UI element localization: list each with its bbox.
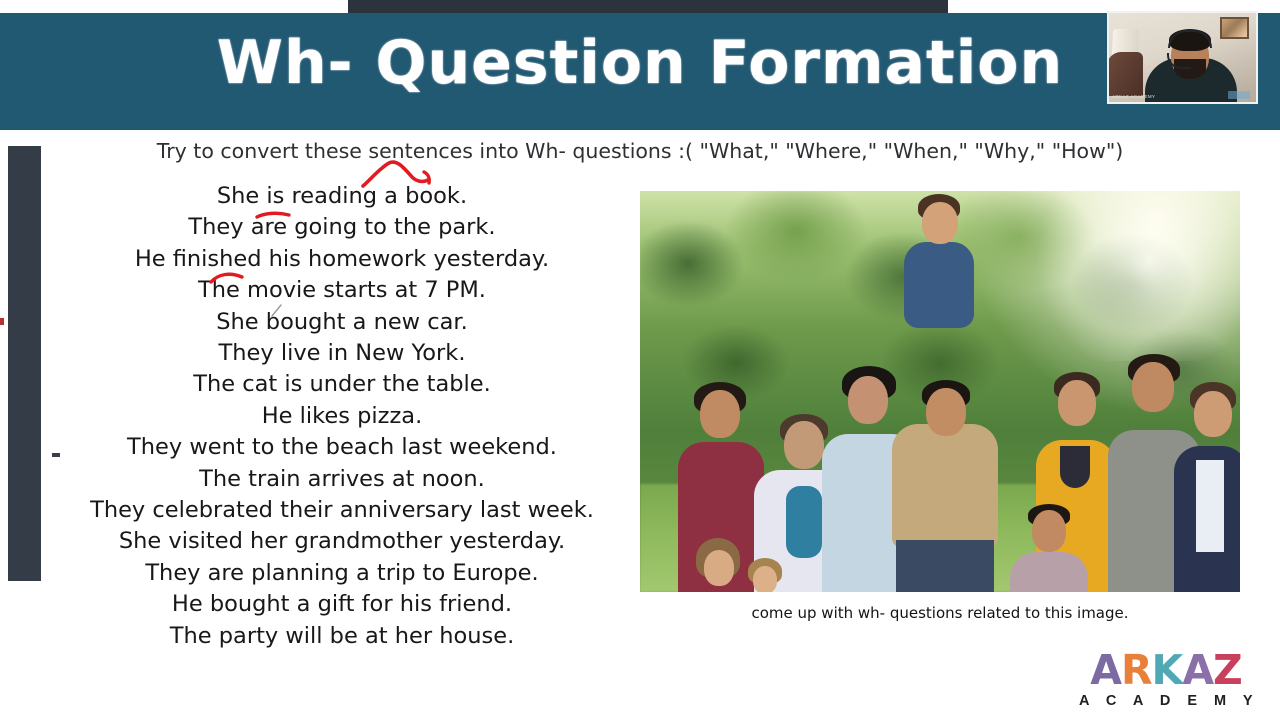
logo-letter-a1: A [1090,648,1121,692]
sentence-list: She is reading a book. They are going to… [44,181,640,652]
list-item: They live in New York. [44,338,640,369]
list-item: The train arrives at noon. [44,464,640,495]
presentation-slide: Wh- Question Formation ARKAZ ACADEMY Try… [0,0,1280,720]
image-caption: come up with wh- questions related to th… [640,604,1240,622]
webcam-badge [1228,91,1250,99]
logo-wordmark: ARKAZ [1066,648,1266,692]
wall-picture-icon [1220,17,1249,39]
logo-letter-r: R [1121,648,1152,692]
list-item: The cat is under the table. [44,369,640,400]
logo-subtitle: A C A D E M Y [1066,692,1266,710]
instruction-text: Try to convert these sentences into Wh- … [0,139,1280,164]
left-side-panel[interactable] [8,146,41,581]
list-item: They went to the beach last weekend. [44,432,640,463]
list-item: The movie starts at 7 PM. [44,275,640,306]
photo-person-tan-tee [882,340,1006,592]
webcam-watermark: ARKAZ ACADEMY [1112,94,1155,99]
webcam-overlay[interactable]: ARKAZ ACADEMY [1107,11,1258,104]
logo-letter-k: K [1152,648,1183,692]
list-item: The party will be at her house. [44,621,640,652]
list-item: They are going to the park. [44,212,640,243]
slide-header-band: Wh- Question Formation [0,13,1280,130]
logo-letter-a2: A [1182,648,1213,692]
logo-letter-z: Z [1213,648,1242,692]
list-item: She is reading a book. [44,181,640,212]
photo-person-plaid-seated [1008,504,1090,592]
list-item: They are planning a trip to Europe. [44,558,640,589]
list-item: He finished his homework yesterday. [44,244,640,275]
photo-person-child-left [688,536,750,592]
list-item: She visited her grandmother yesterday. [44,526,640,557]
list-item: He likes pizza. [44,401,640,432]
photo-person-child-left-2 [742,558,790,592]
list-item: He bought a gift for his friend. [44,589,640,620]
photo-person-navy-cardigan [1172,382,1240,592]
photo-sun-flare [1020,191,1240,361]
list-item: They celebrated their anniversary last w… [44,495,640,526]
family-photo [640,191,1240,592]
arkaz-logo: ARKAZ A C A D E M Y [1066,648,1266,714]
chair-icon [1107,52,1143,96]
page-title: Wh- Question Formation [0,33,1280,93]
list-item: She bought a new car. [44,307,640,338]
left-panel-marker [0,318,4,325]
